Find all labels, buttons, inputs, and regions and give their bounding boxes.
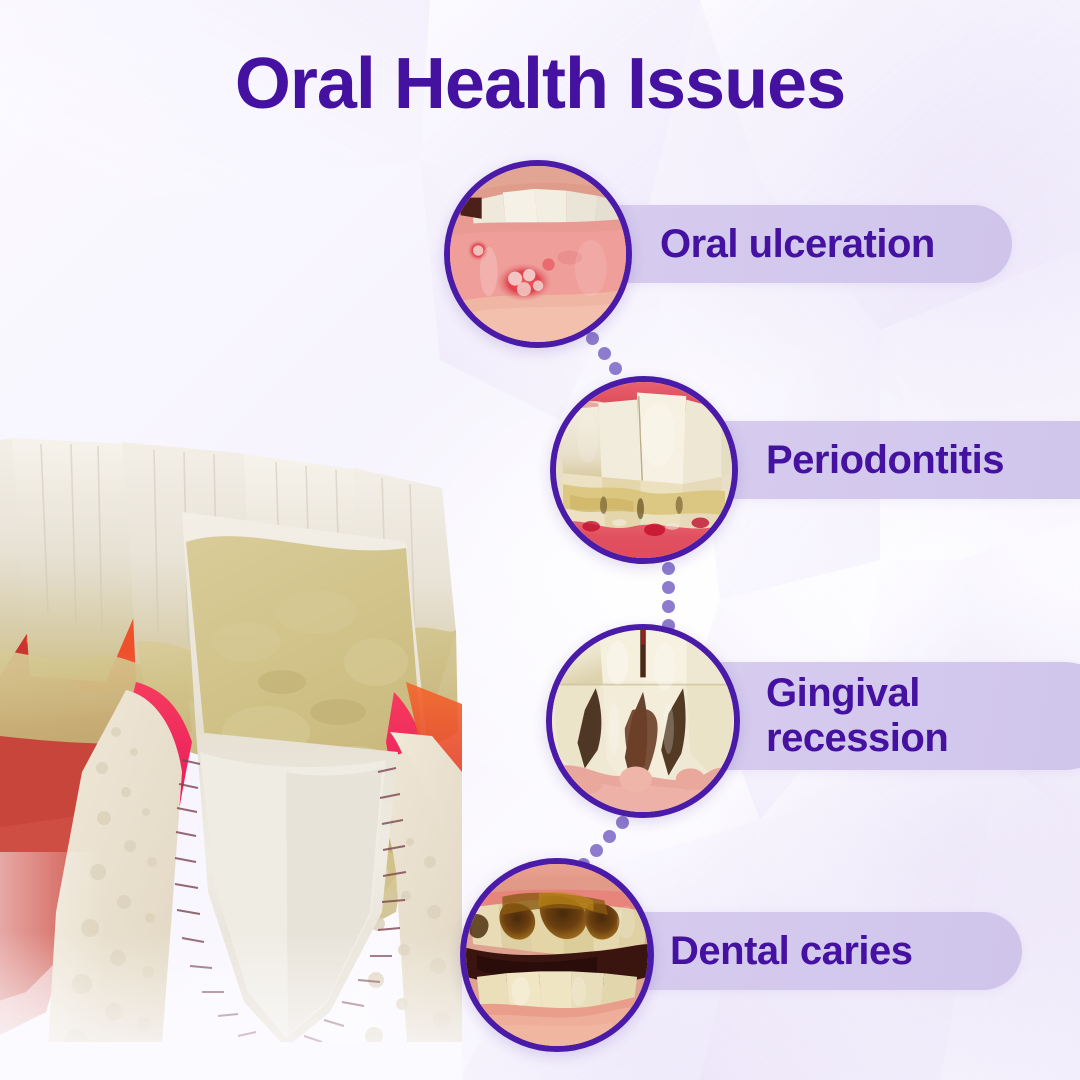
connector-dot <box>662 600 675 613</box>
photo-periodontitis[interactable] <box>550 376 738 564</box>
label-text-periodontitis: Periodontitis <box>766 440 1004 481</box>
connector-dot <box>662 581 675 594</box>
connector-dot <box>590 844 603 857</box>
connector-dot <box>586 332 599 345</box>
oral-ulceration-image <box>450 166 626 342</box>
page-title: Oral Health Issues <box>0 48 1080 120</box>
infographic-canvas: Oral Health Issues <box>0 0 1080 1080</box>
label-text-gingival-recession: Gingival recession <box>766 671 948 761</box>
label-text-dental-caries: Dental caries <box>670 931 913 972</box>
connector-dot <box>616 816 629 829</box>
gingival-recession-image <box>552 630 734 812</box>
photo-dental-caries[interactable] <box>460 858 654 1052</box>
photo-oral-ulceration[interactable] <box>444 160 632 348</box>
periodontitis-image <box>556 382 732 558</box>
connector-dot <box>609 362 622 375</box>
connector-dot <box>598 347 611 360</box>
connector-dot <box>662 562 675 575</box>
label-text-oral-ulceration: Oral ulceration <box>660 224 935 265</box>
periodontal-disease-illustration <box>0 212 462 1080</box>
connector-dot <box>603 830 616 843</box>
dental-caries-image <box>466 864 648 1046</box>
photo-gingival-recession[interactable] <box>546 624 740 818</box>
